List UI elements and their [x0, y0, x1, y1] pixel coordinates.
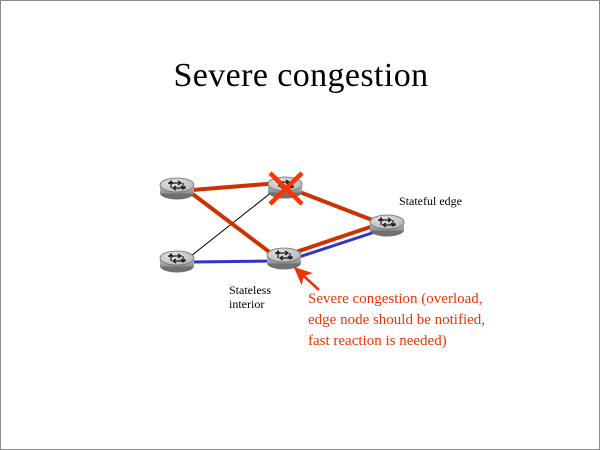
- router-right-edge[interactable]: [370, 215, 404, 237]
- congestion-pointer-arrow-icon: [295, 268, 319, 290]
- router-bottom-middle[interactable]: [267, 248, 301, 270]
- label-stateless-interior: Stateless interior: [229, 283, 271, 311]
- label-stateful-edge: Stateful edge: [399, 194, 462, 208]
- link-flow-bottommid-rightedge: [296, 230, 381, 258]
- link-flow-bottomleft-bottommid: [192, 261, 275, 262]
- link-congested-topleft-bottommid: [190, 192, 276, 257]
- link-congested-topmid-rightedge: [297, 191, 380, 223]
- router-bottom-left[interactable]: [160, 251, 194, 273]
- router-top-left[interactable]: [160, 178, 194, 200]
- congestion-annotation-text: Severe congestion (overload, edge node s…: [308, 289, 588, 352]
- network-topology-diagram: [1, 1, 600, 450]
- link-congested-topleft-topmid: [192, 183, 279, 190]
- link-congested-bottommid-rightedge: [296, 224, 379, 252]
- presentation-slide: Severe congestion: [0, 0, 600, 450]
